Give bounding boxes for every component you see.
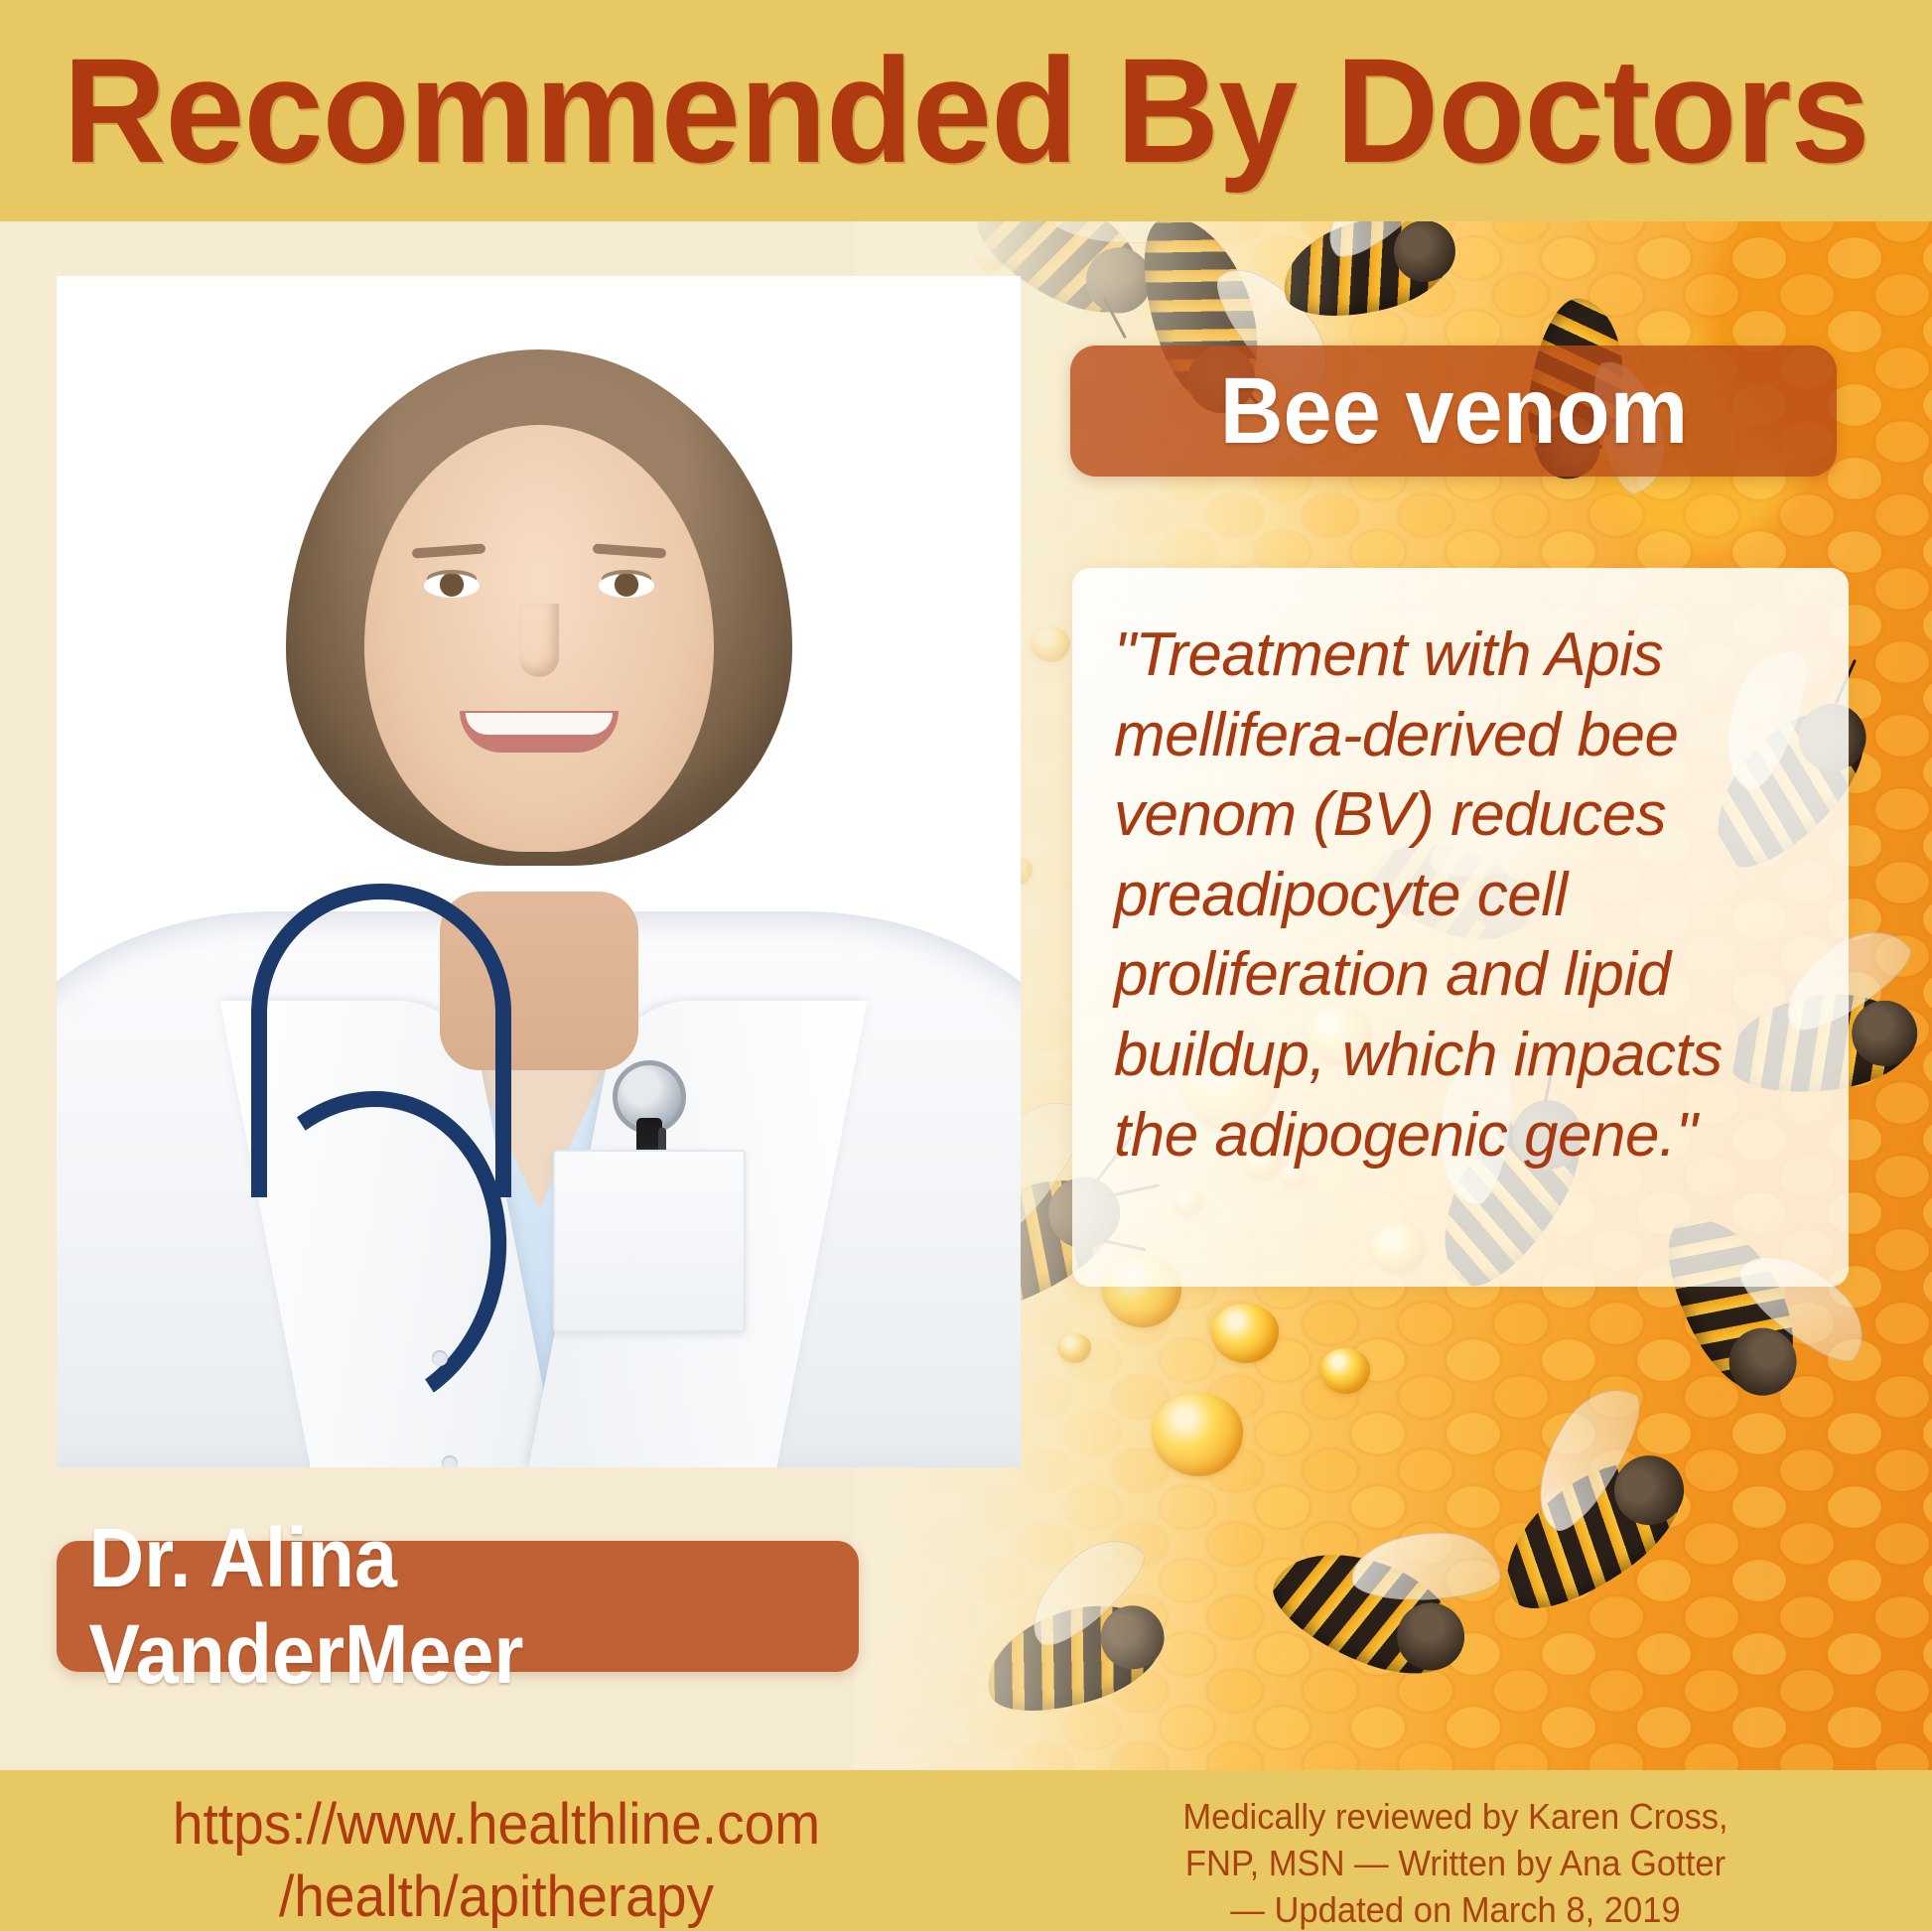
doctor-photo-canvas bbox=[57, 276, 1021, 1467]
eye-left bbox=[424, 574, 480, 598]
doctor-name-label: Dr. Alina VanderMeer bbox=[88, 1510, 826, 1703]
doctor-name-bar: Dr. Alina VanderMeer bbox=[57, 1541, 859, 1672]
coat-button bbox=[432, 1350, 448, 1366]
teeth bbox=[466, 713, 613, 735]
source-url[interactable]: https://www.healthline.com /health/apith… bbox=[110, 1788, 884, 1931]
mouth bbox=[460, 711, 619, 753]
quote-panel: "Treatment with Apis mellifera-derived b… bbox=[1072, 568, 1849, 1287]
nose bbox=[519, 604, 559, 677]
credit-line-3: — Updated on March 8, 2019 bbox=[1055, 1887, 1856, 1931]
header-band: Recommended By Doctors bbox=[0, 0, 1932, 221]
coat-pocket bbox=[553, 1150, 746, 1332]
eye-right bbox=[599, 574, 654, 598]
page-title: Recommended By Doctors bbox=[39, 0, 1893, 221]
article-credits: Medically reviewed by Karen Cross, FNP, … bbox=[1055, 1794, 1856, 1931]
source-url-line-1: https://www.healthline.com bbox=[110, 1788, 884, 1861]
source-url-line-2: /health/apitherapy bbox=[110, 1861, 884, 1931]
topic-chip-bee-venom: Bee venom bbox=[1070, 345, 1837, 477]
footer-band: https://www.healthline.com /health/apith… bbox=[0, 1770, 1932, 1931]
doctor-photo bbox=[57, 276, 1021, 1467]
quote-text: "Treatment with Apis mellifera-derived b… bbox=[1114, 616, 1809, 1175]
credit-line-1: Medically reviewed by Karen Cross, bbox=[1055, 1794, 1856, 1841]
poster-canvas: Bee venom "Treatment with Apis mellifera… bbox=[0, 0, 1932, 1931]
credit-line-2: FNP, MSN — Written by Ana Gotter bbox=[1055, 1841, 1856, 1887]
coat-button bbox=[442, 1455, 458, 1467]
topic-chip-label: Bee venom bbox=[1219, 357, 1687, 466]
